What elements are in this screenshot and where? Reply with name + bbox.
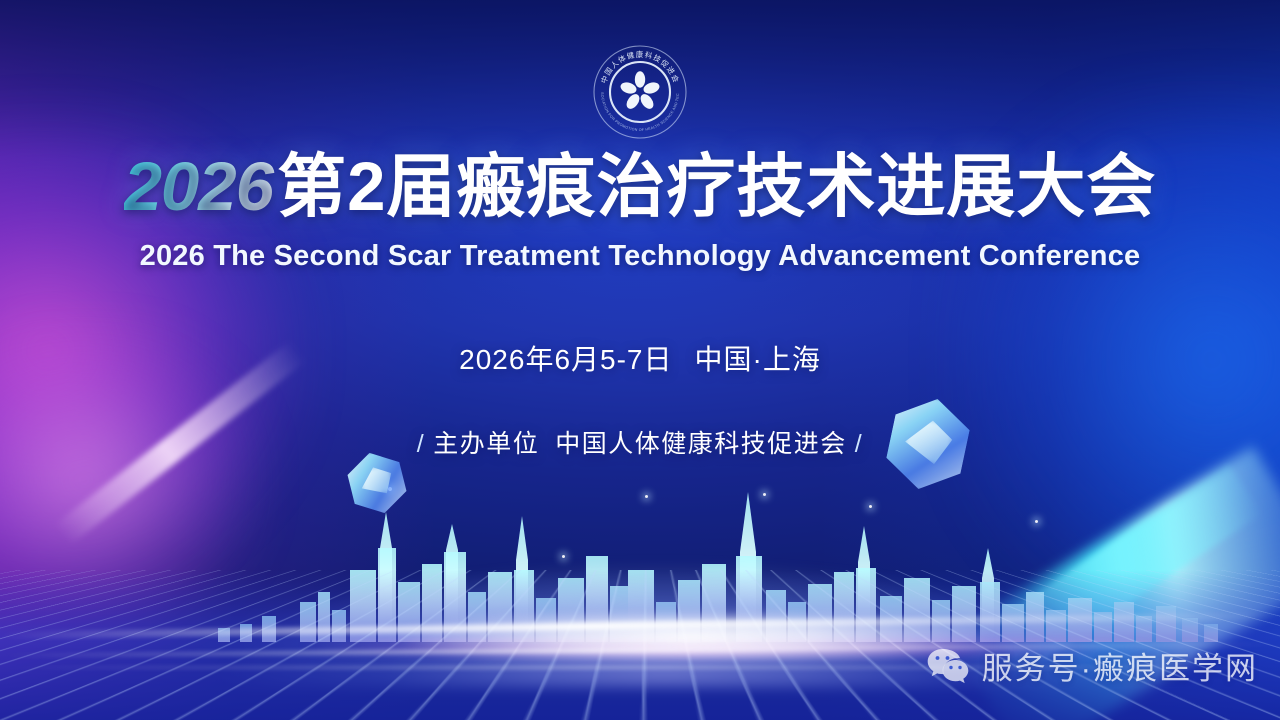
five-petal-flower-icon <box>619 71 661 111</box>
slash-left: / <box>409 430 433 458</box>
event-date: 2026年6月5-7日 <box>459 344 672 375</box>
organizer-label: 主办单位 <box>433 430 539 458</box>
conference-poster: 中国人体健康科技促进会 CHINA ASSOCIATION FOR PROMOT… <box>0 0 1280 720</box>
organizer-name: 中国人体健康科技促进会 <box>555 430 847 458</box>
page-title: 2026第2届瘢痕治疗技术进展大会 <box>0 152 1280 221</box>
title-subtitle-en: 2026 The Second Scar Treatment Technolog… <box>0 240 1280 273</box>
china-health-association-emblem: 中国人体健康科技促进会 CHINA ASSOCIATION FOR PROMOT… <box>592 44 688 140</box>
event-location: 中国·上海 <box>695 344 821 375</box>
wechat-icon <box>926 647 970 685</box>
title-year: 2026 <box>124 148 278 225</box>
slash-right: / <box>847 430 871 458</box>
watermark-text: 服务号·瘢痕医学网 <box>982 643 1258 688</box>
event-date-location: 2026年6月5-7日中国·上海 <box>0 338 1280 378</box>
poster-content: 中国人体健康科技促进会 CHINA ASSOCIATION FOR PROMOT… <box>0 0 1280 720</box>
title-main-cn: 第2届瘢痕治疗技术进展大会 <box>277 148 1156 225</box>
organizer-line: /主办单位中国人体健康科技促进会/ <box>0 424 1280 460</box>
wechat-watermark: 服务号·瘢痕医学网 <box>926 643 1258 688</box>
